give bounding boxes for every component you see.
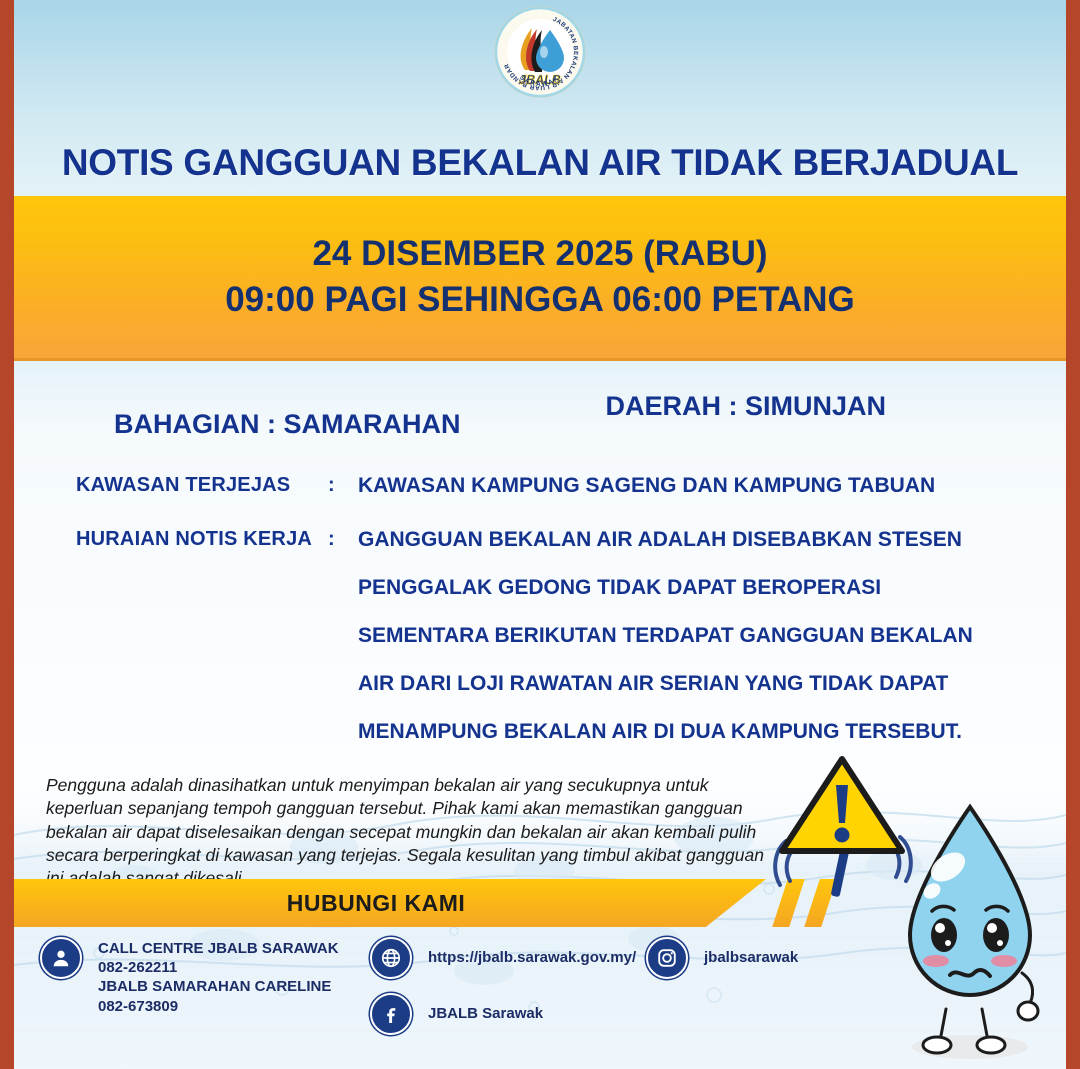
call-centre-phone: 082-262211 — [98, 959, 177, 976]
field-value-line: PENGGALAK GEDONG TIDAK DAPAT BEROPERASI — [358, 576, 973, 600]
call-centre-name: CALL CENTRE JBALB SARAWAK — [98, 940, 339, 957]
field-label-huraian-notis-kerja: HURAIAN NOTIS KERJA — [76, 528, 328, 551]
advisory-text: Pengguna adalah dinasihatkan untuk menyi… — [46, 774, 766, 890]
careline-phone: 082-673809 — [98, 998, 178, 1015]
field-label-kawasan-terjejas: KAWASAN TERJEJAS — [76, 474, 328, 497]
region-row: BAHAGIAN : SAMARAHAN DAERAH : SIMUNJAN — [14, 361, 1066, 440]
instagram-handle: jbalbsarawak — [704, 949, 798, 966]
notice-time: 09:00 PAGI SEHINGGA 06:00 PETANG — [225, 280, 855, 320]
contact-call-centre-text: CALL CENTRE JBALB SARAWAK 082-262211 JBA… — [98, 937, 339, 1016]
contact-call-centre[interactable]: CALL CENTRE JBALB SARAWAK 082-262211 JBA… — [40, 937, 339, 1016]
field-colon: : — [328, 528, 358, 551]
field-value-line: MENAMPUNG BEKALAN AIR DI DUA KAMPUNG TER… — [358, 720, 973, 744]
field-value-line: KAWASAN KAMPUNG SAGENG DAN KAMPUNG TABUA… — [358, 474, 935, 498]
contact-instagram[interactable]: jbalbsarawak — [646, 937, 798, 979]
water-droplet-mascot — [882, 795, 1060, 1067]
globe-icon — [370, 937, 412, 979]
page-title: NOTIS GANGGUAN BEKALAN AIR TIDAK BERJADU… — [14, 142, 1066, 184]
field-colon: : — [328, 474, 358, 497]
notice-date: 24 DISEMBER 2025 (RABU) — [312, 234, 767, 274]
contact-banner-label: HUBUNGI KAMI — [287, 890, 466, 917]
contact-facebook[interactable]: JBALB Sarawak — [370, 993, 543, 1035]
facebook-icon — [370, 993, 412, 1035]
field-row: KAWASAN TERJEJAS : KAWASAN KAMPUNG SAGEN… — [76, 474, 1066, 498]
field-value-line: GANGGUAN BEKALAN AIR ADALAH DISEBABKAN S… — [358, 528, 973, 552]
water-disruption-notice-poster: JABATAN BEKALAN AIR LUAR BANDAR JBALB SA… — [0, 0, 1080, 1069]
contact-banner: HUBUNGI KAMI — [14, 879, 766, 927]
field-value-line: SEMENTARA BERIKUTAN TERDAPAT GANGGUAN BE… — [358, 624, 973, 648]
field-row: HURAIAN NOTIS KERJA : GANGGUAN BEKALAN A… — [76, 528, 1066, 744]
district-label: DAERAH : SIMUNJAN — [605, 391, 886, 422]
field-value-huraian-notis-kerja: GANGGUAN BEKALAN AIR ADALAH DISEBABKAN S… — [358, 528, 973, 744]
field-value-line: AIR DARI LOJI RAWATAN AIR SERIAN YANG TI… — [358, 672, 973, 696]
field-value-kawasan-terjejas: KAWASAN KAMPUNG SAGENG DAN KAMPUNG TABUA… — [358, 474, 935, 498]
poster-header: JABATAN BEKALAN AIR LUAR BANDAR JBALB SA… — [14, 0, 1066, 196]
careline-name: JBALB SAMARAHAN CARELINE — [98, 978, 331, 995]
website-url: https://jbalb.sarawak.gov.my/ — [428, 949, 636, 966]
notice-fields: KAWASAN TERJEJAS : KAWASAN KAMPUNG SAGEN… — [14, 440, 1066, 744]
facebook-handle: JBALB Sarawak — [428, 1005, 543, 1022]
jbalb-sarawak-logo: JABATAN BEKALAN AIR LUAR BANDAR JBALB SA… — [492, 4, 588, 100]
contact-instagram-text: jbalbsarawak — [704, 937, 798, 967]
person-icon — [40, 937, 82, 979]
contact-website[interactable]: https://jbalb.sarawak.gov.my/ — [370, 937, 636, 979]
contact-facebook-text: JBALB Sarawak — [428, 993, 543, 1023]
division-label: BAHAGIAN : SAMARAHAN — [114, 409, 460, 440]
date-time-band: 24 DISEMBER 2025 (RABU) 09:00 PAGI SEHIN… — [14, 196, 1066, 361]
contact-website-text: https://jbalb.sarawak.gov.my/ — [428, 937, 636, 967]
instagram-icon — [646, 937, 688, 979]
